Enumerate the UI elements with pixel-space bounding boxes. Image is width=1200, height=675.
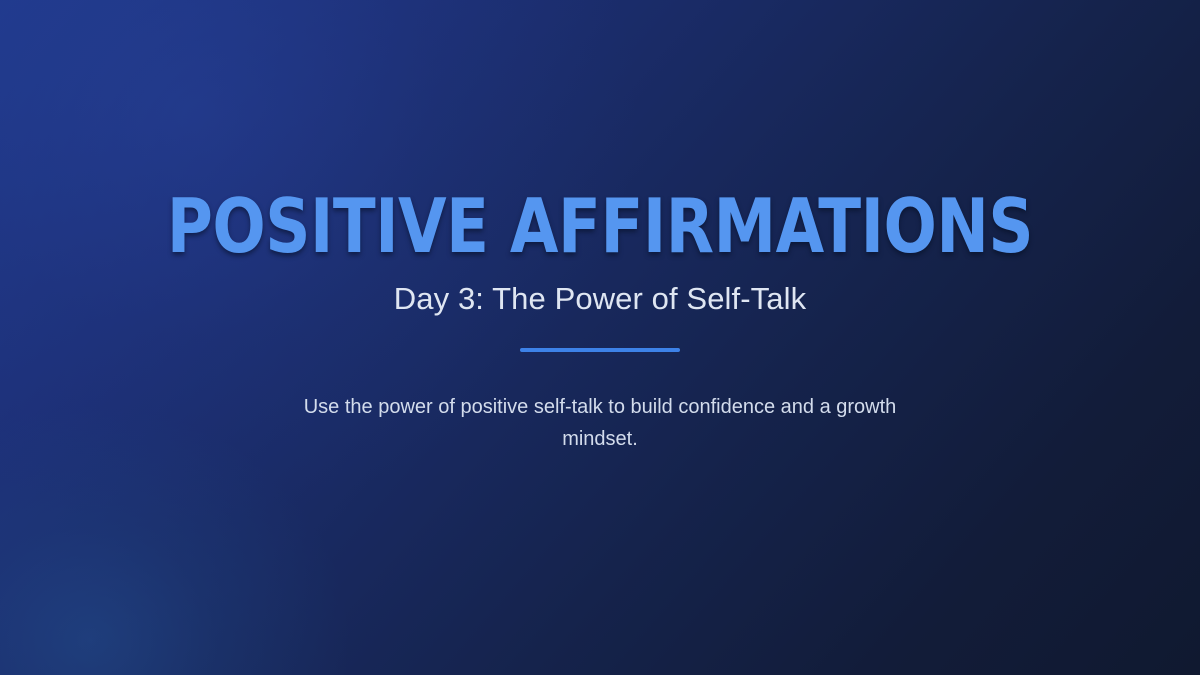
slide-title: POSITIVE AFFIRMATIONS	[42, 186, 1158, 266]
presentation-slide: POSITIVE AFFIRMATIONS Day 3: The Power o…	[0, 0, 1200, 675]
slide-content: POSITIVE AFFIRMATIONS Day 3: The Power o…	[0, 186, 1200, 455]
slide-subtitle: Day 3: The Power of Self-Talk	[0, 280, 1200, 318]
divider-container	[0, 348, 1200, 353]
slide-description: Use the power of positive self-talk to b…	[300, 391, 900, 455]
accent-divider	[520, 348, 680, 352]
